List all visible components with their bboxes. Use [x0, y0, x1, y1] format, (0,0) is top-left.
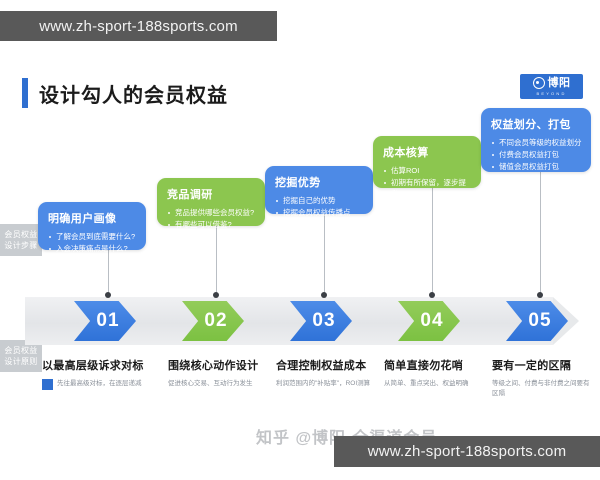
logo-name-en: BEYOND: [536, 91, 566, 96]
principle-swatch-icon: [42, 379, 53, 390]
principle-sub-wrap: 等级之间、付费与非付费之间要有区隔: [492, 379, 592, 399]
step-card-05[interactable]: 权益划分、打包 不同会员等级的权益划分 付费会员权益打包 储值会员权益打包: [481, 108, 591, 172]
connector-stem-05: [540, 172, 541, 294]
side-label-steps: 会员权益设计步骤: [0, 224, 42, 256]
title-text: 设计勾人的会员权益: [39, 79, 228, 108]
principle-sub: 先往最高级对标，在逐层递减: [57, 379, 142, 389]
page-title: 设计勾人的会员权益: [22, 78, 228, 108]
logo-name-cn: 博阳: [548, 78, 571, 89]
principle-sub-wrap: 先往最高级对标，在逐层递减: [42, 379, 152, 390]
screenshot-stage: www.zh-sport-188sports.com 设计勾人的会员权益 博阳 …: [0, 0, 600, 480]
principle-title: 简单直接勿花哨: [384, 357, 484, 373]
principle-sub-wrap: 利润范围内的"补贴率"，ROI测算: [276, 379, 380, 389]
connector-dot-04: [429, 292, 435, 298]
card-bullet: 估算ROI: [383, 165, 472, 176]
principle-title: 合理控制权益成本: [276, 357, 380, 373]
card-bullets-04: 估算ROI 初期有所保留，逐步提升: [383, 165, 472, 199]
principle-sub: 等级之间、付费与非付费之间要有区隔: [492, 379, 592, 399]
slide-canvas: 设计勾人的会员权益 博阳 BEYOND 会员权益设计步骤 会员权益设计原则 01…: [0, 52, 600, 427]
principle-sub-wrap: 从简单、重点突出、权益明确: [384, 379, 484, 389]
principle-04: 简单直接勿花哨 从简单、重点突出、权益明确: [384, 357, 484, 389]
principle-sub: 利润范围内的"补贴率"，ROI测算: [276, 379, 370, 389]
card-bullet: 初期有所保留，逐步提升: [383, 177, 472, 199]
connector-stem-01: [108, 250, 109, 294]
logo-row: 博阳: [533, 77, 571, 89]
principle-sub: 促进核心交易、互动行为发生: [168, 379, 253, 389]
card-title-03: 挖掘优势: [275, 174, 364, 190]
principle-sub-wrap: 促进核心交易、互动行为发生: [168, 379, 272, 389]
principle-title: 围绕核心动作设计: [168, 357, 272, 373]
connector-stem-02: [216, 226, 217, 294]
connector-dot-01: [105, 292, 111, 298]
connector-stem-03: [324, 214, 325, 294]
connector-dot-05: [537, 292, 543, 298]
principle-title: 以最高层级诉求对标: [42, 357, 152, 373]
principle-title: 要有一定的区隔: [492, 357, 592, 373]
connector-dot-02: [213, 292, 219, 298]
card-title-02: 竞品调研: [167, 186, 256, 202]
card-bullets-05: 不同会员等级的权益划分 付费会员权益打包 储值会员权益打包: [491, 137, 582, 172]
step-card-03[interactable]: 挖掘优势 挖掘自己的优势 挖掘会员权益传播点: [265, 166, 373, 214]
card-bullet: 竞品提供哪些会员权益?: [167, 207, 256, 218]
step-card-02[interactable]: 竞品调研 竞品提供哪些会员权益? 有哪些可以借鉴?: [157, 178, 265, 226]
card-bullet: 不同会员等级的权益划分: [491, 137, 582, 148]
connector-dot-03: [321, 292, 327, 298]
url-watermark-bottom: www.zh-sport-188sports.com: [334, 436, 600, 467]
card-title-01: 明确用户画像: [48, 210, 137, 226]
url-watermark-top: www.zh-sport-188sports.com: [0, 11, 277, 41]
principle-01: 以最高层级诉求对标 先往最高级对标，在逐层递减: [42, 357, 152, 390]
card-title-04: 成本核算: [383, 144, 472, 160]
card-bullet: 挖掘自己的优势: [275, 195, 364, 206]
step-card-04[interactable]: 成本核算 估算ROI 初期有所保留，逐步提升: [373, 136, 481, 188]
step-card-01[interactable]: 明确用户画像 了解会员到底需要什么? 入会决策痛点是什么?: [38, 202, 146, 250]
card-bullet: 了解会员到底需要什么?: [48, 231, 137, 242]
principle-03: 合理控制权益成本 利润范围内的"补贴率"，ROI测算: [276, 357, 380, 389]
card-bullets-02: 竞品提供哪些会员权益? 有哪些可以借鉴?: [167, 207, 256, 230]
principle-sub: 从简单、重点突出、权益明确: [384, 379, 469, 389]
principle-05: 要有一定的区隔 等级之间、付费与非付费之间要有区隔: [492, 357, 592, 399]
card-title-05: 权益划分、打包: [491, 116, 582, 132]
logo-circle-icon: [533, 77, 545, 89]
title-accent-bar: [22, 78, 28, 108]
connector-stem-04: [432, 188, 433, 294]
card-bullet: 储值会员权益打包: [491, 161, 582, 172]
card-bullets-01: 了解会员到底需要什么? 入会决策痛点是什么?: [48, 231, 137, 254]
brand-logo: 博阳 BEYOND: [520, 74, 583, 99]
principle-02: 围绕核心动作设计 促进核心交易、互动行为发生: [168, 357, 272, 389]
card-bullet: 入会决策痛点是什么?: [48, 243, 137, 254]
card-bullets-03: 挖掘自己的优势 挖掘会员权益传播点: [275, 195, 364, 218]
card-bullet: 挖掘会员权益传播点: [275, 207, 364, 218]
card-bullet: 有哪些可以借鉴?: [167, 219, 256, 230]
card-bullet: 付费会员权益打包: [491, 149, 582, 160]
